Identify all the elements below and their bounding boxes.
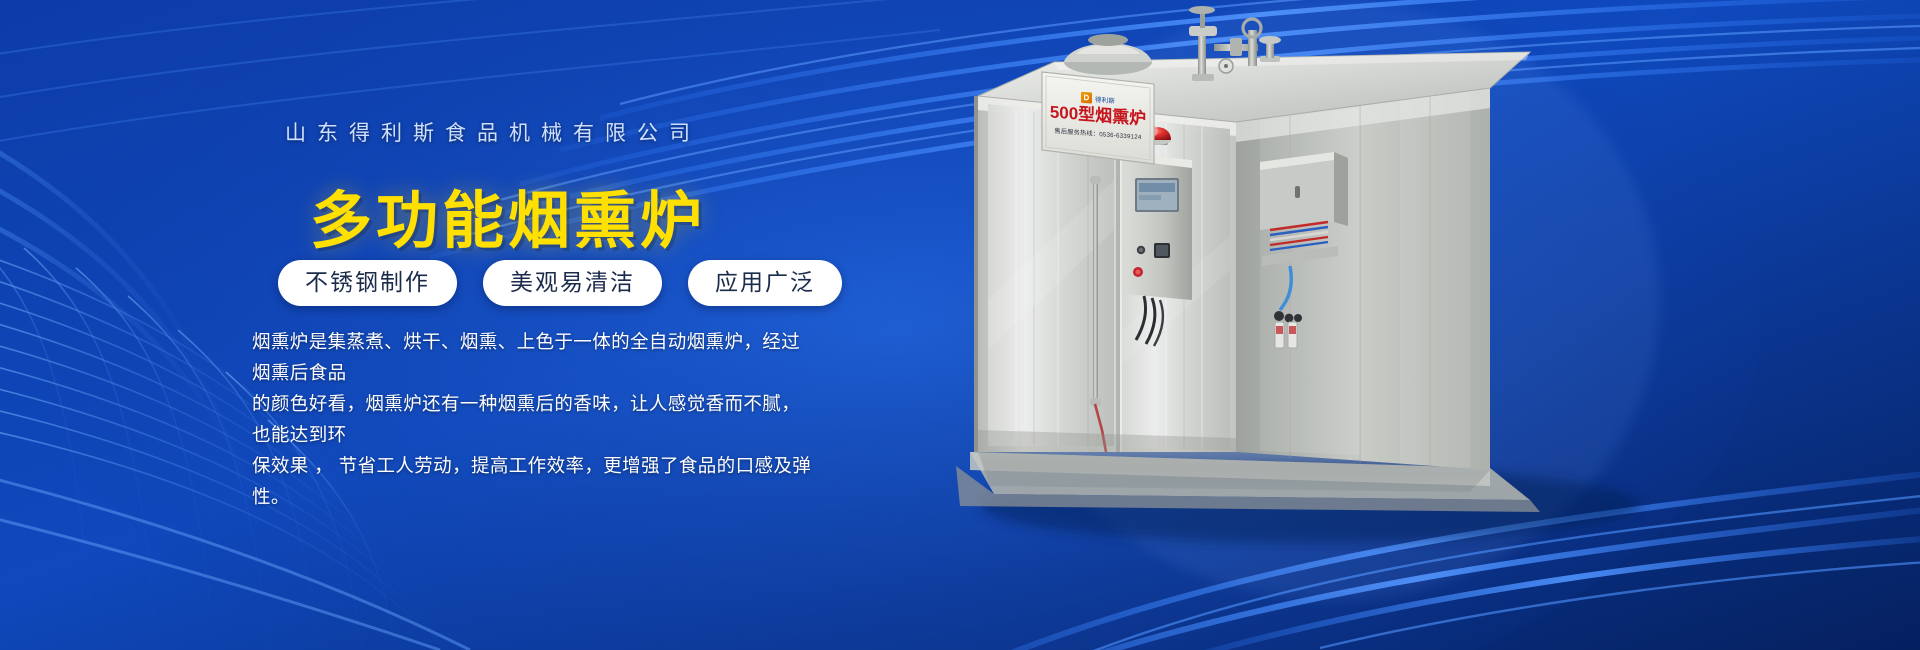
hero-banner: D 得利斯 500型烟熏炉 售后服务热线：0536-6339124 山东得利斯食… xyxy=(0,0,1920,650)
feature-pill-wide-application[interactable]: 应用广泛 xyxy=(688,260,842,306)
page-title: 多功能烟熏炉 xyxy=(310,170,706,260)
product-description: 烟熏炉是集蒸煮、烘干、烟熏、上色于一体的全自动烟熏炉，经过烟熏后食品 的颜色好看… xyxy=(252,326,814,512)
feature-pill-easy-clean[interactable]: 美观易清洁 xyxy=(483,260,662,306)
description-line-1: 烟熏炉是集蒸煮、烘干、烟熏、上色于一体的全自动烟熏炉，经过烟熏后食品 xyxy=(252,326,814,388)
description-line-2: 的颜色好看，烟熏炉还有一种烟熏后的香味，让人感觉香而不腻，也能达到环 xyxy=(252,388,814,450)
description-line-3: 保效果 ， 节省工人劳动，提高工作效率，更增强了食品的口感及弹性。 xyxy=(252,450,814,512)
company-name: 山东得利斯食品机械有限公司 xyxy=(285,117,701,147)
feature-pill-stainless-steel[interactable]: 不锈钢制作 xyxy=(278,260,457,306)
feature-pill-row: 不锈钢制作 美观易清洁 应用广泛 xyxy=(278,260,842,306)
hero-text-column: 山东得利斯食品机械有限公司 多功能烟熏炉 不锈钢制作 美观易清洁 应用广泛 烟熏… xyxy=(0,0,880,650)
product-image-smoke-oven xyxy=(930,0,1920,650)
